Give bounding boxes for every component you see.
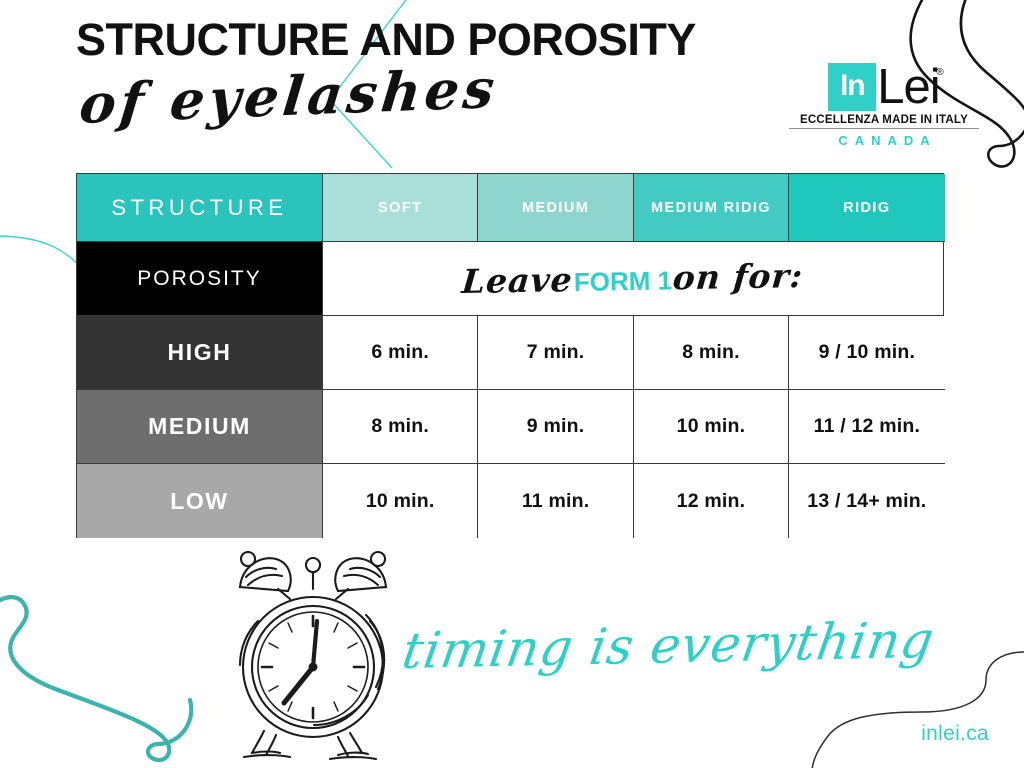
logo-country: CANADA — [789, 133, 979, 148]
row-label-low: LOW — [77, 464, 323, 538]
cell-low-medium: 11 min. — [478, 464, 633, 538]
cell-high-medium: 7 min. — [478, 316, 633, 390]
registered-trademark-icon: ® — [936, 68, 942, 78]
logo-wordmark: In Lei ® — [789, 55, 979, 111]
logo-tagline: ECCELLENZA MADE IN ITALY — [789, 114, 979, 129]
table-porosity-row: POROSITY Leave FORM 1 on for: — [77, 242, 943, 316]
cell-low-ridig: 13 / 14+ min. — [789, 464, 944, 538]
instruction-cell: Leave FORM 1 on for: — [323, 242, 943, 316]
table-row: MEDIUM 8 min. 9 min. 10 min. 11 / 12 min… — [77, 390, 943, 464]
cell-medium-medium-ridig: 10 min. — [634, 390, 789, 464]
table-header-row: STRUCTURE SOFT MEDIUM MEDIUM RIDIG RIDIG — [77, 174, 943, 242]
structure-porosity-table: STRUCTURE SOFT MEDIUM MEDIUM RIDIG RIDIG… — [76, 173, 944, 538]
column-header-medium-ridig: MEDIUM RIDIG — [634, 174, 789, 242]
cell-medium-soft: 8 min. — [323, 390, 478, 464]
footer-tagline: timing is everything — [398, 611, 938, 680]
porosity-label: POROSITY — [77, 242, 323, 316]
swoosh-bottom-left — [0, 597, 191, 760]
column-header-soft: SOFT — [323, 174, 478, 242]
column-header-medium: MEDIUM — [478, 174, 633, 242]
cell-low-soft: 10 min. — [323, 464, 478, 538]
page-subtitle-script: of eyelashes — [77, 56, 502, 136]
logo-lei-text: Lei ® — [877, 64, 939, 111]
logo-lei-label: Lei — [877, 60, 939, 114]
instruction-suffix: on for: — [672, 256, 806, 297]
cell-high-ridig: 9 / 10 min. — [789, 316, 944, 390]
cell-high-soft: 6 min. — [323, 316, 478, 390]
row-label-medium: MEDIUM — [77, 390, 323, 464]
brand-logo[interactable]: In Lei ® ECCELLENZA MADE IN ITALY CANADA — [789, 55, 979, 148]
cell-medium-ridig: 11 / 12 min. — [789, 390, 944, 464]
instruction-prefix: Leave — [461, 260, 575, 301]
header-structure-label: STRUCTURE — [77, 174, 323, 242]
cell-medium-medium: 9 min. — [478, 390, 633, 464]
row-label-high: HIGH — [77, 316, 323, 390]
logo-in-text: In — [840, 71, 865, 103]
column-header-ridig: RIDIG — [789, 174, 944, 242]
cell-high-medium-ridig: 8 min. — [634, 316, 789, 390]
poster-canvas: STRUCTURE AND POROSITY of eyelashes In L… — [0, 0, 1024, 768]
alarm-clock-icon — [218, 545, 408, 760]
instruction-text: Leave FORM 1 on for: — [462, 256, 804, 301]
website-link[interactable]: inlei.ca — [921, 722, 989, 746]
instruction-product: FORM 1 — [573, 265, 674, 298]
cell-low-medium-ridig: 12 min. — [634, 464, 789, 538]
logo-in-box: In — [828, 63, 876, 111]
table-row: LOW 10 min. 11 min. 12 min. 13 / 14+ min… — [77, 464, 943, 538]
table-row: HIGH 6 min. 7 min. 8 min. 9 / 10 min. — [77, 316, 943, 390]
